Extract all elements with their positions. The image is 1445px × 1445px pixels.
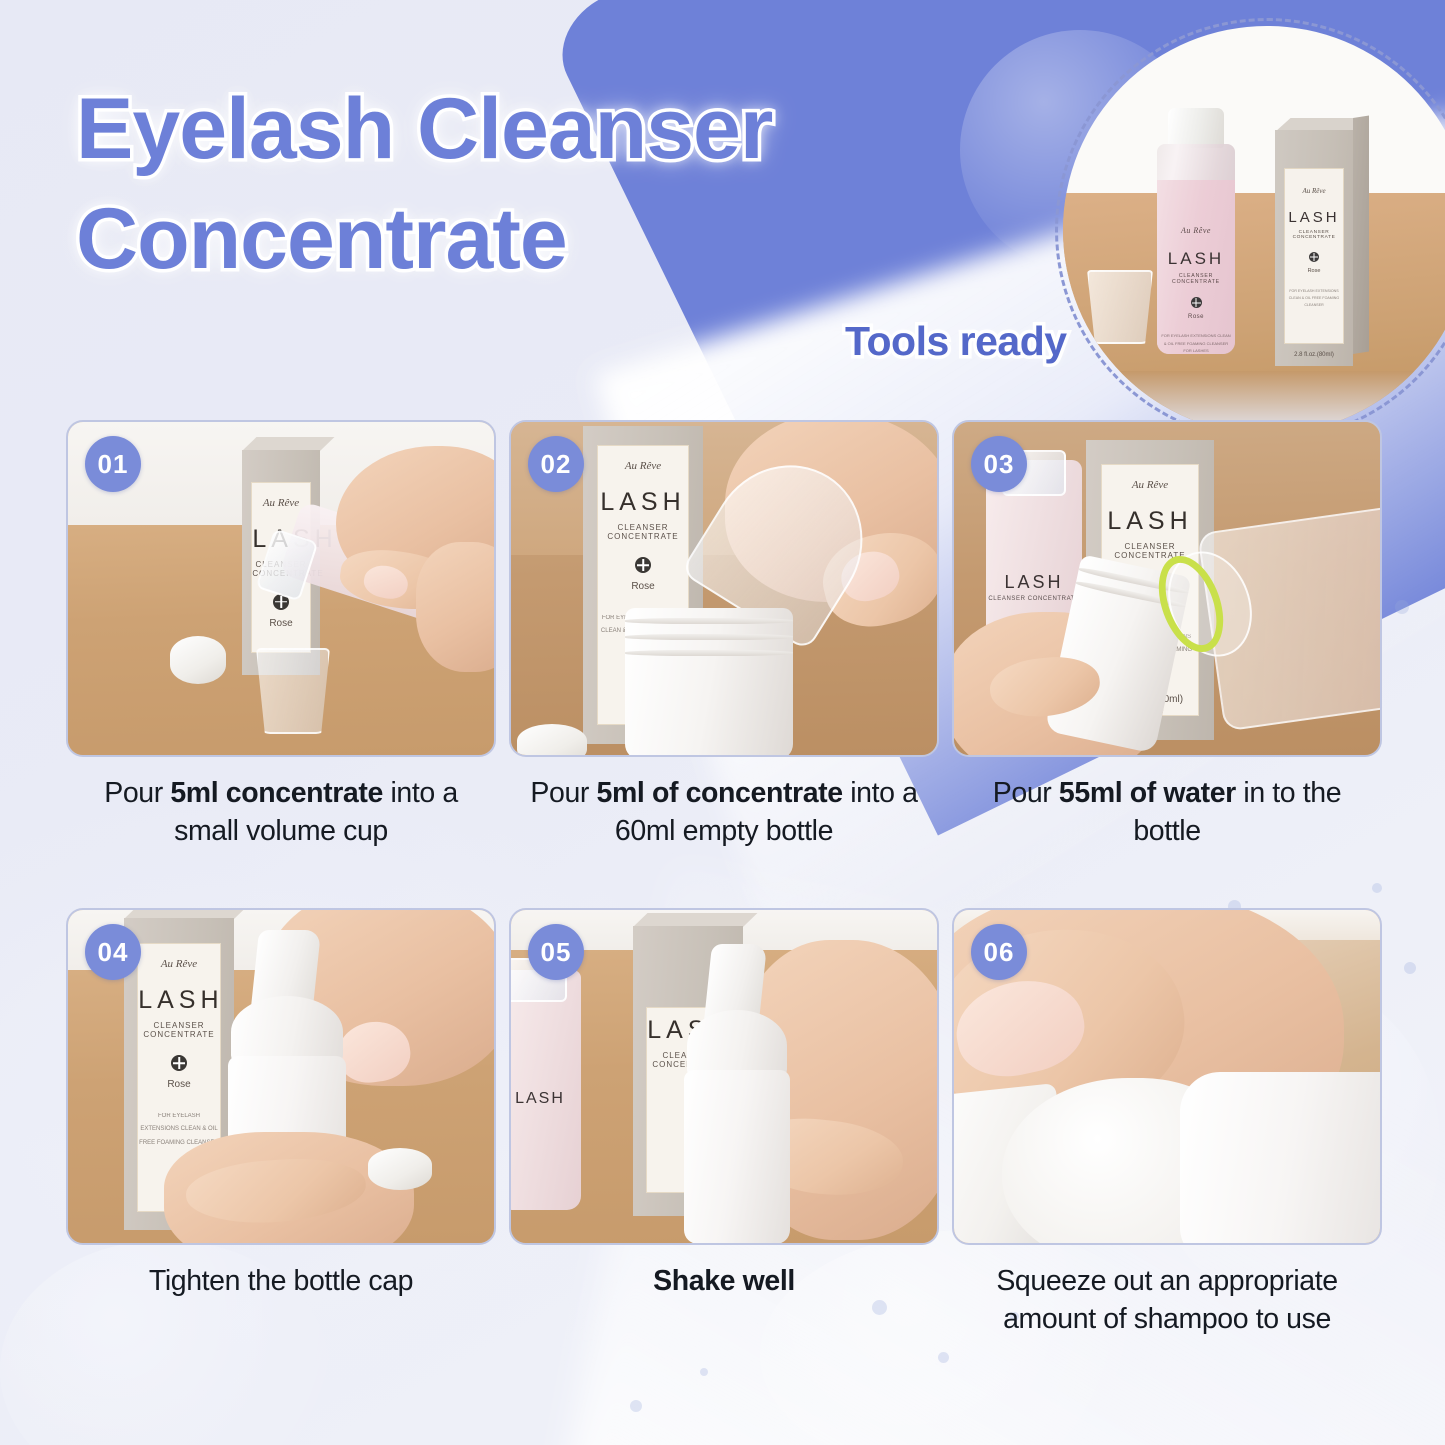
- box-product-name: LASH: [1102, 507, 1197, 536]
- lash-emblem-icon: [1191, 297, 1202, 308]
- box-product-name: LASH: [1285, 209, 1343, 226]
- bottle-brand: Au Rêve: [1161, 226, 1231, 235]
- bottle-thread: [625, 618, 793, 624]
- page-title-line-2: Concentrate: [76, 196, 976, 284]
- step-photo-06: 06: [952, 908, 1382, 1245]
- box-brand: Au Rêve: [598, 460, 687, 472]
- box-variant: Rose: [138, 1079, 220, 1090]
- bottle-product-name: LASH: [986, 572, 1082, 593]
- step-card-05: LASH LASH CLEANSER CONCENTRATE: [509, 908, 939, 1338]
- step-card-04: Au Rêve LASH CLEANSER CONCENTRATE Rose F…: [66, 908, 496, 1338]
- box-brand: Au Rêve: [252, 497, 309, 509]
- step-badge-05: 05: [528, 924, 584, 980]
- step-photo-03: Au Rêve LASH CLEANSER CONCENTRATE Rose F…: [952, 420, 1382, 757]
- foam-pump-bottle: [1180, 1072, 1380, 1243]
- box-volume: 2.8 fl.oz.(80ml): [1284, 352, 1344, 358]
- caption-emphasis: 5ml of concentrate: [597, 777, 843, 809]
- step-caption-04: Tighten the bottle cap: [66, 1263, 496, 1301]
- box-side-face: [1353, 115, 1369, 354]
- step-caption-01: Pour 5ml concentrate into a small volume…: [66, 775, 496, 850]
- bottle-cap-on-desk: [170, 636, 226, 684]
- page-title-line-1: Eyelash Cleanser: [76, 86, 976, 174]
- caption-pre: Pour: [993, 777, 1059, 809]
- lash-emblem-icon: [635, 557, 651, 573]
- box-subtitle: CLEANSER CONCENTRATE: [598, 523, 687, 541]
- step-photo-02: Au Rêve LASH CLEANSER CONCENTRATE Rose F…: [509, 420, 939, 757]
- bottle-product-name: LASH: [511, 1090, 581, 1108]
- box-top-face: [633, 913, 757, 927]
- step-caption-05: Shake well: [509, 1263, 939, 1301]
- lash-emblem-icon: [171, 1055, 187, 1071]
- bottle-product-name: LASH: [1161, 249, 1231, 269]
- bottle-body: Au Rêve LASH CLEANSER CONCENTRATE Rose F…: [1157, 144, 1235, 354]
- box-brand: Au Rêve: [1102, 479, 1197, 491]
- box-subtitle: CLEANSER CONCENTRATE: [138, 1021, 220, 1039]
- step-photo-05: LASH LASH CLEANSER CONCENTRATE: [509, 908, 939, 1245]
- step-card-02: Au Rêve LASH CLEANSER CONCENTRATE Rose F…: [509, 420, 939, 850]
- box-variant: Rose: [1285, 268, 1343, 274]
- box-description: FOR EYELASH EXTENSIONS CLEAN & OIL FREE …: [1285, 288, 1343, 310]
- bottle-description: FOR EYELASH EXTENSIONS CLEAN & OIL FREE …: [1161, 332, 1231, 354]
- pump-body: [684, 1070, 790, 1243]
- measuring-cup: [1087, 270, 1153, 344]
- measuring-cup: [256, 648, 330, 734]
- lash-emblem-icon: [1309, 252, 1319, 262]
- bottle-cap-on-desk: [368, 1148, 432, 1190]
- caption-pre: Pour: [530, 777, 596, 809]
- box-subtitle: CLEANSER CONCENTRATE: [1285, 230, 1343, 240]
- box-brand: Au Rêve: [138, 958, 220, 970]
- box-top-face: [242, 437, 334, 451]
- hero-photo: Au Rêve LASH CLEANSER CONCENTRATE Rose F…: [1063, 26, 1445, 434]
- bottle-subtitle: CLEANSER CONCENTRATE: [986, 596, 1082, 602]
- box-variant: Rose: [598, 581, 687, 592]
- bottle-cap: [1168, 108, 1224, 148]
- bottle-label: Au Rêve LASH CLEANSER CONCENTRATE Rose F…: [1161, 222, 1231, 336]
- step-badge-02: 02: [528, 436, 584, 492]
- caption-pre: Pour: [104, 777, 170, 809]
- bottle-cap-on-desk: [517, 724, 587, 755]
- step-badge-04: 04: [85, 924, 141, 980]
- bottle-subtitle: CLEANSER CONCENTRATE: [1161, 273, 1231, 285]
- caption-post: Squeeze out an appropriate amount of sha…: [996, 1265, 1337, 1335]
- box-variant: Rose: [252, 618, 309, 629]
- box-label: Au Rêve LASH CLEANSER CONCENTRATE Rose F…: [1284, 168, 1344, 344]
- step-caption-02: Pour 5ml of concentrate into a 60ml empt…: [509, 775, 939, 850]
- bottle-thread: [625, 634, 793, 640]
- bottle-thread: [625, 650, 793, 656]
- step-badge-03: 03: [971, 436, 1027, 492]
- hand: [416, 542, 494, 672]
- pump-body: [1180, 1072, 1380, 1243]
- hero-concentrate-bottle: Au Rêve LASH CLEANSER CONCENTRATE Rose F…: [1157, 108, 1235, 354]
- step-photo-01: Au Rêve LASH CLEANSER CONCENTRATE Rose: [66, 420, 496, 757]
- page-title: Eyelash Cleanser Concentrate: [76, 86, 976, 283]
- steps-grid: Au Rêve LASH CLEANSER CONCENTRATE Rose: [66, 420, 1386, 1338]
- step-card-06: 06 Squeeze out an appropriate amount of …: [952, 908, 1382, 1338]
- tools-ready-label: Tools ready: [845, 318, 1067, 365]
- box-brand: Au Rêve: [1285, 187, 1343, 195]
- step-caption-06: Squeeze out an appropriate amount of sha…: [952, 1263, 1382, 1338]
- hero-product-box: Au Rêve LASH CLEANSER CONCENTRATE Rose F…: [1275, 118, 1367, 366]
- step-caption-03: Pour 55ml of water in to the bottle: [952, 775, 1382, 850]
- box-product-name: LASH: [138, 986, 220, 1015]
- step-badge-06: 06: [971, 924, 1027, 980]
- empty-bottle: [625, 608, 793, 755]
- bottle-variant: Rose: [1161, 314, 1231, 320]
- box-front-face: Au Rêve LASH CLEANSER CONCENTRATE Rose F…: [1275, 130, 1353, 366]
- caption-post: Tighten the bottle cap: [149, 1265, 413, 1297]
- step-card-03: Au Rêve LASH CLEANSER CONCENTRATE Rose F…: [952, 420, 1382, 850]
- bubble-speck: [1404, 962, 1416, 974]
- caption-emphasis: 5ml concentrate: [170, 777, 383, 809]
- step-badge-01: 01: [85, 436, 141, 492]
- step-card-01: Au Rêve LASH CLEANSER CONCENTRATE Rose: [66, 420, 496, 850]
- caption-emphasis: 55ml of water: [1059, 777, 1236, 809]
- box-product-name: LASH: [598, 488, 687, 517]
- caption-emphasis: Shake well: [653, 1265, 795, 1297]
- foam-pump-bottle: [677, 944, 797, 1243]
- step-photo-04: Au Rêve LASH CLEANSER CONCENTRATE Rose F…: [66, 908, 496, 1245]
